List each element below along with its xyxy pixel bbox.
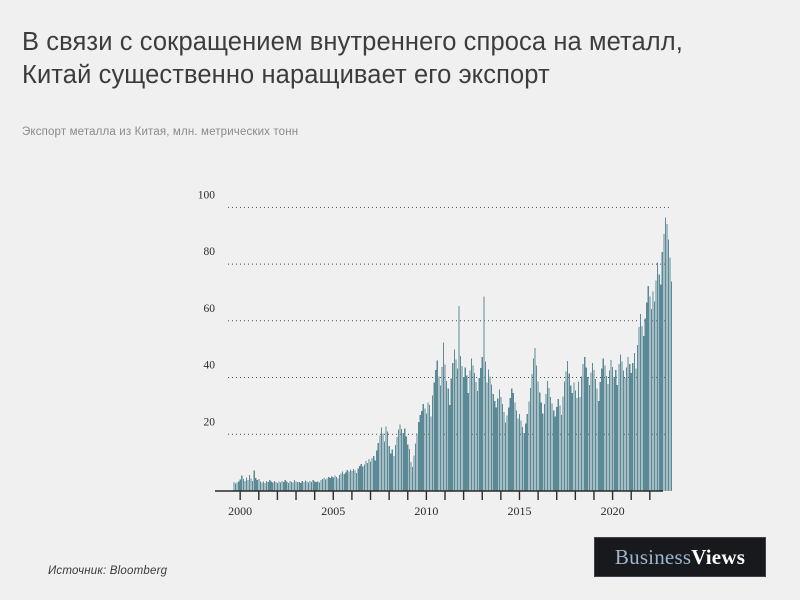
bar xyxy=(669,257,670,491)
bar xyxy=(317,481,318,491)
bar xyxy=(444,364,445,491)
bar xyxy=(320,480,321,491)
bar xyxy=(271,482,272,491)
y-axis-tick-label: 60 xyxy=(204,303,216,315)
y-axis-tick-label: 40 xyxy=(204,360,216,372)
bar xyxy=(435,370,436,491)
bar xyxy=(468,393,469,491)
x-axis-tick-label: 2010 xyxy=(414,504,438,518)
bar xyxy=(652,291,653,491)
bar xyxy=(631,373,632,491)
bar xyxy=(275,482,276,491)
bar xyxy=(372,458,373,491)
bar xyxy=(354,471,355,491)
bar xyxy=(334,476,335,491)
bar xyxy=(651,309,652,491)
bar xyxy=(525,423,526,491)
bar xyxy=(593,370,594,491)
bar xyxy=(482,357,483,491)
bar xyxy=(542,413,543,491)
bar xyxy=(376,451,377,491)
bar xyxy=(309,481,310,491)
bar xyxy=(668,240,669,491)
bar xyxy=(311,482,312,491)
bar xyxy=(390,454,391,491)
bar xyxy=(541,403,542,492)
bar xyxy=(458,306,459,491)
bar xyxy=(268,482,269,491)
bar xyxy=(514,403,515,492)
bar xyxy=(480,368,481,491)
bar xyxy=(485,362,486,491)
bar xyxy=(406,437,407,491)
bar xyxy=(365,461,366,491)
bar xyxy=(264,483,265,491)
bar xyxy=(387,431,388,491)
bar xyxy=(361,464,362,491)
bar xyxy=(358,468,359,491)
bar xyxy=(384,442,385,491)
bar xyxy=(624,378,625,491)
bar xyxy=(362,467,363,491)
bar xyxy=(592,363,593,491)
x-axis: 20002005201020152020 xyxy=(215,491,663,518)
bar xyxy=(569,374,570,491)
bar xyxy=(533,358,534,491)
bar xyxy=(316,482,317,491)
bar xyxy=(486,383,487,491)
bar xyxy=(356,473,357,491)
bar xyxy=(477,391,478,491)
bar xyxy=(638,327,639,491)
bar xyxy=(590,372,591,491)
bar xyxy=(345,472,346,491)
bar xyxy=(251,479,252,491)
bar xyxy=(379,435,380,491)
bar xyxy=(654,302,655,491)
bar xyxy=(640,314,641,491)
bar xyxy=(308,482,309,491)
bar xyxy=(538,382,539,491)
bar xyxy=(628,357,629,491)
y-axis-tick-label: 20 xyxy=(204,416,216,428)
bar xyxy=(595,379,596,491)
bar xyxy=(244,481,245,491)
header: В связи с сокращением внутреннего спроса… xyxy=(22,26,782,92)
bar xyxy=(657,262,658,491)
bar xyxy=(522,427,523,491)
bar xyxy=(465,367,466,491)
bar xyxy=(237,482,238,491)
bar xyxy=(407,444,408,491)
bar xyxy=(578,382,579,491)
bar xyxy=(552,404,553,491)
bar xyxy=(519,414,520,491)
bar xyxy=(269,480,270,491)
bar xyxy=(342,472,343,491)
bar xyxy=(255,478,256,491)
bar xyxy=(238,481,239,491)
bar xyxy=(302,481,303,491)
bar xyxy=(280,482,281,491)
bar xyxy=(534,348,535,491)
bar xyxy=(607,384,608,491)
x-axis-tick-label: 2005 xyxy=(321,504,345,518)
bar xyxy=(375,460,376,491)
bar xyxy=(586,367,587,491)
bar xyxy=(620,354,621,491)
bar xyxy=(559,405,560,491)
bar xyxy=(260,482,261,491)
bar xyxy=(601,368,602,491)
bar xyxy=(351,471,352,491)
bar xyxy=(665,218,666,491)
bar xyxy=(604,366,605,491)
bar xyxy=(292,482,293,491)
bar xyxy=(610,360,611,491)
bar xyxy=(440,385,441,491)
bar xyxy=(499,389,500,491)
bar xyxy=(344,474,345,491)
y-axis-tick-label: 100 xyxy=(198,189,216,201)
bar xyxy=(257,480,258,491)
bar xyxy=(353,469,354,491)
bar xyxy=(476,382,477,491)
bar xyxy=(516,410,517,491)
bar xyxy=(359,466,360,491)
bar xyxy=(659,274,660,491)
bar xyxy=(558,399,559,491)
bar xyxy=(562,396,563,491)
bar xyxy=(382,434,383,491)
bar xyxy=(286,481,287,491)
bar xyxy=(337,479,338,491)
bar xyxy=(296,481,297,491)
bar xyxy=(283,482,284,491)
bar xyxy=(649,296,650,491)
bar xyxy=(556,407,557,491)
bar xyxy=(612,367,613,491)
bar xyxy=(240,480,241,491)
bar xyxy=(511,388,512,491)
bar xyxy=(581,376,582,491)
logo-text-business: Business xyxy=(615,545,691,569)
bar xyxy=(635,368,636,491)
bar xyxy=(448,388,449,491)
bar xyxy=(493,394,494,491)
bar xyxy=(272,482,273,491)
bar xyxy=(378,443,379,491)
bar xyxy=(463,377,464,491)
bar xyxy=(469,371,470,491)
bar xyxy=(368,459,369,491)
bar xyxy=(303,482,304,491)
bar xyxy=(389,446,390,491)
bar xyxy=(642,326,643,491)
bar xyxy=(274,481,275,491)
bar xyxy=(503,412,504,491)
bar xyxy=(306,482,307,491)
bar xyxy=(434,383,435,491)
bar xyxy=(331,476,332,491)
bar xyxy=(438,376,439,491)
bar xyxy=(426,413,427,491)
bar xyxy=(392,450,393,491)
x-axis-tick-label: 2015 xyxy=(507,504,531,518)
bar xyxy=(341,473,342,491)
bar xyxy=(243,479,244,491)
bar xyxy=(409,449,410,491)
bar xyxy=(254,471,255,491)
logo-text-views: Views xyxy=(691,545,745,569)
bar xyxy=(479,378,480,491)
bar xyxy=(299,482,300,491)
bar xyxy=(474,373,475,491)
bar xyxy=(564,382,565,491)
bar xyxy=(545,394,546,491)
bar xyxy=(297,482,298,491)
bar xyxy=(646,303,647,491)
bar xyxy=(429,405,430,491)
bar xyxy=(531,374,532,491)
bar xyxy=(252,481,253,491)
bar xyxy=(347,470,348,491)
bar xyxy=(452,363,453,491)
bar xyxy=(395,445,396,491)
bar xyxy=(609,371,610,491)
bar xyxy=(629,364,630,491)
bar xyxy=(561,415,562,491)
bar xyxy=(573,383,574,491)
bar xyxy=(489,376,490,491)
bar xyxy=(339,475,340,491)
bar xyxy=(460,356,461,491)
bar xyxy=(314,481,315,491)
bar xyxy=(404,429,405,491)
bar xyxy=(373,456,374,491)
bar xyxy=(396,437,397,491)
bar xyxy=(466,375,467,491)
bar xyxy=(441,367,442,491)
bar xyxy=(632,363,633,491)
bar xyxy=(614,377,615,491)
bar xyxy=(367,463,368,491)
bar xyxy=(423,404,424,491)
bar xyxy=(364,464,365,491)
bar xyxy=(655,281,656,491)
bar xyxy=(517,418,518,491)
bar xyxy=(507,416,508,491)
bar xyxy=(322,479,323,491)
bar xyxy=(427,403,428,492)
bar xyxy=(497,399,498,491)
bar xyxy=(544,404,545,491)
bar xyxy=(584,357,585,491)
bar xyxy=(233,482,234,491)
bar xyxy=(527,414,528,491)
bar xyxy=(398,430,399,491)
bar xyxy=(246,477,247,491)
bar xyxy=(300,483,301,491)
bar xyxy=(530,388,531,491)
bar xyxy=(491,384,492,491)
bar xyxy=(550,397,551,491)
bar xyxy=(539,392,540,491)
bar xyxy=(606,376,607,491)
bar xyxy=(278,481,279,491)
bar xyxy=(483,296,484,491)
bar xyxy=(528,401,529,491)
bar xyxy=(600,382,601,491)
bar xyxy=(536,366,537,491)
bar xyxy=(575,391,576,491)
bar xyxy=(294,480,295,491)
bar xyxy=(420,415,421,491)
bar xyxy=(258,479,259,491)
businessviews-logo: BusinessViews xyxy=(594,537,766,577)
chart-subtitle: Экспорт металла из Китая, млн. метрическ… xyxy=(22,126,298,138)
bar xyxy=(663,234,664,491)
bar xyxy=(457,368,458,491)
bar xyxy=(555,417,556,491)
bar xyxy=(579,397,580,491)
bar xyxy=(291,482,292,491)
bar xyxy=(587,377,588,491)
bar xyxy=(455,359,456,491)
bar xyxy=(328,477,329,491)
bar xyxy=(472,366,473,491)
bar xyxy=(660,285,661,492)
bar xyxy=(432,396,433,491)
bar xyxy=(666,224,667,491)
bar xyxy=(583,364,584,491)
bar xyxy=(603,358,604,491)
page-title-line2: Китай существенно наращивает его экспорт xyxy=(22,59,782,92)
bar xyxy=(648,286,649,491)
bar xyxy=(618,364,619,491)
bar xyxy=(508,408,509,491)
x-axis-tick-label: 2000 xyxy=(228,504,252,518)
bar xyxy=(249,475,250,491)
bar xyxy=(399,425,400,491)
bar xyxy=(333,477,334,491)
bar xyxy=(494,401,495,491)
bar xyxy=(327,479,328,491)
bar xyxy=(393,456,394,491)
bar xyxy=(548,388,549,491)
bar xyxy=(637,345,638,491)
bar xyxy=(241,476,242,491)
bar xyxy=(547,381,548,491)
bar xyxy=(330,478,331,491)
bar xyxy=(576,398,577,491)
bar xyxy=(500,397,501,491)
bar xyxy=(567,361,568,491)
bar xyxy=(261,482,262,491)
bar xyxy=(454,350,455,491)
bar xyxy=(521,421,522,491)
bar xyxy=(634,353,635,491)
bar xyxy=(313,480,314,491)
bar xyxy=(589,385,590,491)
bars-group xyxy=(233,218,672,491)
bar xyxy=(443,342,444,491)
bar xyxy=(570,385,571,491)
gridlines xyxy=(228,207,670,434)
bar xyxy=(348,472,349,491)
bar xyxy=(415,443,416,491)
y-axis-tick-label: 80 xyxy=(204,246,216,258)
bar xyxy=(282,481,283,491)
bar xyxy=(488,370,489,491)
source-note: Источник: Bloomberg xyxy=(48,565,167,577)
bar xyxy=(319,482,320,491)
bar xyxy=(263,481,264,491)
logo-text: BusinessViews xyxy=(615,545,745,570)
bar xyxy=(305,481,306,492)
bar xyxy=(597,388,598,491)
bar xyxy=(437,361,438,491)
bar xyxy=(401,429,402,491)
bar xyxy=(289,481,290,491)
bar xyxy=(418,422,419,491)
bar xyxy=(623,371,624,491)
bar xyxy=(381,427,382,491)
bar xyxy=(505,422,506,491)
bar xyxy=(446,381,447,491)
bar xyxy=(565,371,566,491)
bar xyxy=(431,417,432,491)
bar xyxy=(370,462,371,492)
bar xyxy=(325,480,326,491)
bar xyxy=(643,336,644,491)
bar xyxy=(266,481,267,491)
bar xyxy=(615,370,616,491)
bar xyxy=(247,480,248,491)
bar xyxy=(417,434,418,491)
bar xyxy=(449,405,450,491)
bar xyxy=(235,484,236,491)
y-axis: 20406080100 xyxy=(198,189,216,428)
bar xyxy=(645,319,646,491)
x-axis-tick-label: 2020 xyxy=(601,504,625,518)
bar xyxy=(410,462,411,491)
bar xyxy=(617,385,618,491)
bar xyxy=(662,252,663,491)
bar xyxy=(572,393,573,491)
bar xyxy=(350,469,351,491)
bar xyxy=(285,480,286,491)
bar xyxy=(424,409,425,491)
bar xyxy=(553,410,554,491)
bar xyxy=(513,393,514,491)
bar xyxy=(626,367,627,491)
bar xyxy=(277,483,278,491)
bar xyxy=(524,433,525,491)
bar xyxy=(598,401,599,491)
bar xyxy=(502,404,503,491)
bar xyxy=(323,478,324,491)
bar xyxy=(336,477,337,491)
bar xyxy=(412,467,413,491)
bar xyxy=(451,379,452,491)
page-title-line1: В связи с сокращением внутреннего спроса… xyxy=(22,26,782,59)
bar xyxy=(621,362,622,491)
bar xyxy=(471,358,472,491)
bar xyxy=(413,455,414,491)
bar xyxy=(403,433,404,491)
bar xyxy=(462,366,463,491)
